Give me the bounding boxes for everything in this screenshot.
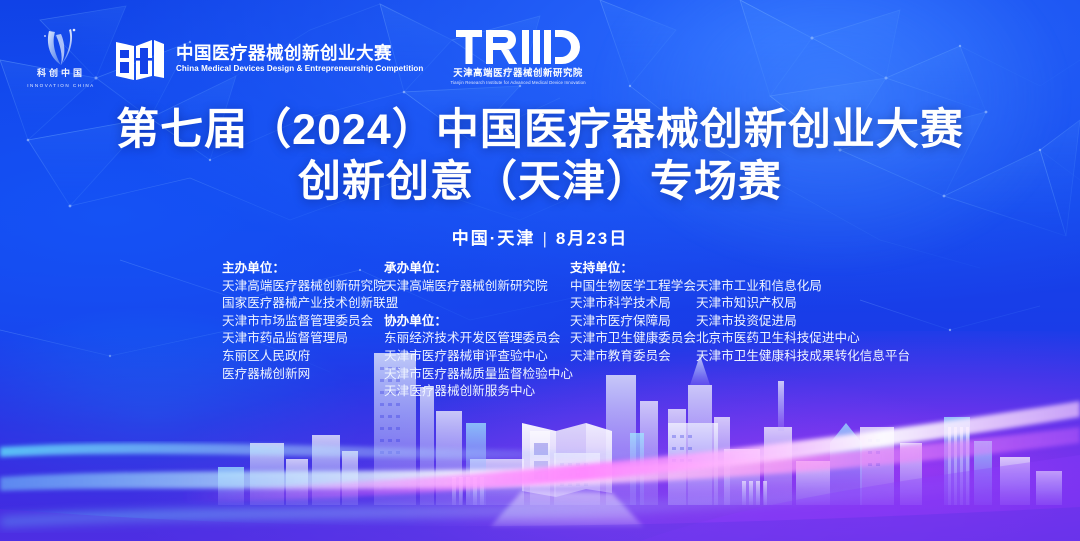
supporter-item: 天津市投资促进局	[696, 313, 910, 331]
subtitle-separator: |	[542, 229, 548, 249]
host-item: 天津市药品监督管理局	[222, 330, 358, 348]
organizer-column-supporters: 支持单位： 中国生物医学工程学会 天津市科学技术局 天津市医疗保障局 天津市卫生…	[570, 260, 910, 366]
host-heading: 主办单位：	[222, 260, 358, 278]
supporter-item: 天津市卫生健康委员会	[570, 330, 696, 348]
logo-innovation-china: 科创中国 INNOVATION CHINA	[24, 27, 98, 89]
page-title: 第七届（2024）中国医疗器械创新创业大赛 创新创意（天津）专场赛	[0, 104, 1080, 208]
supporter-item: 天津市知识产权局	[696, 295, 910, 313]
supporter-list-right: 天津市工业和信息化局 天津市知识产权局 天津市投资促进局 北京市医药卫生科技促进…	[696, 278, 910, 366]
supporter-list-left: 中国生物医学工程学会 天津市科学技术局 天津市医疗保障局 天津市卫生健康委员会 …	[570, 278, 696, 366]
supporter-lists: 中国生物医学工程学会 天津市科学技术局 天津市医疗保障局 天津市卫生健康委员会 …	[570, 278, 910, 366]
logo-triid: 天津高端医疗器械创新研究院 Tianjin Research Institute…	[450, 30, 585, 86]
open-door-icon	[114, 32, 166, 84]
organizer-column-host: 主办单位： 天津高端医疗器械创新研究院 国家医疗器械产业技术创新联盟 天津市市场…	[222, 260, 358, 383]
subtitle-date: 8月23日	[556, 229, 628, 248]
supporter-item: 天津市教育委员会	[570, 348, 696, 366]
host-item: 东丽区人民政府	[222, 348, 358, 366]
subtitle-place: 中国·天津	[452, 229, 536, 248]
logo-bar: 科创中国 INNOVATION CHINA 中国医疗器械创新创业大赛	[24, 26, 586, 90]
triid-en: Tianjin Research Institute for Advanced …	[450, 79, 585, 86]
triid-wordmark-icon	[456, 30, 580, 64]
supporter-item: 北京市医药卫生科技促进中心	[696, 330, 910, 348]
coorganizer-item: 天津市医疗器械审评查验中心	[384, 348, 544, 366]
supporter-item: 天津市工业和信息化局	[696, 278, 910, 296]
host-item: 天津高端医疗器械创新研究院	[222, 278, 358, 296]
triid-zh: 天津高端医疗器械创新研究院	[453, 66, 583, 79]
logo-competition: 中国医疗器械创新创业大赛 China Medical Devices Desig…	[114, 32, 428, 84]
undertaker-heading: 承办单位：	[384, 260, 544, 278]
coorganizer-item: 天津医疗器械创新服务中心	[384, 383, 544, 401]
innovation-china-bird-mark	[36, 27, 86, 69]
organizer-block: 主办单位： 天津高端医疗器械创新研究院 国家医疗器械产业技术创新联盟 天津市市场…	[222, 260, 910, 401]
supporter-item: 中国生物医学工程学会	[570, 278, 696, 296]
host-item: 天津市市场监督管理委员会	[222, 313, 358, 331]
supporter-heading: 支持单位：	[570, 260, 910, 278]
organizer-column-undertaker: 承办单位： 天津高端医疗器械创新研究院 协办单位： 东丽经济技术开发区管理委员会…	[384, 260, 544, 401]
coorganizer-heading: 协办单位：	[384, 313, 544, 331]
host-item: 国家医疗器械产业技术创新联盟	[222, 295, 358, 313]
competition-zh: 中国医疗器械创新创业大赛	[176, 43, 428, 63]
coorganizer-item: 天津市医疗器械质量监督检验中心	[384, 366, 544, 384]
column-spacer	[384, 295, 544, 313]
poster-canvas: 科创中国 INNOVATION CHINA 中国医疗器械创新创业大赛	[0, 0, 1080, 541]
host-item: 医疗器械创新网	[222, 366, 358, 384]
innovation-china-zh: 科创中国	[24, 66, 98, 79]
coorganizer-item: 东丽经济技术开发区管理委员会	[384, 330, 544, 348]
supporter-item: 天津市医疗保障局	[570, 313, 696, 331]
competition-text: 中国医疗器械创新创业大赛 China Medical Devices Desig…	[176, 43, 428, 74]
competition-en: China Medical Devices Design & Entrepren…	[176, 63, 423, 74]
subtitle-place-date: 中国·天津|8月23日	[0, 224, 1080, 249]
undertaker-item: 天津高端医疗器械创新研究院	[384, 278, 544, 296]
supporter-item: 天津市卫生健康科技成果转化信息平台	[696, 348, 910, 366]
title-line-1: 第七届（2024）中国医疗器械创新创业大赛	[0, 104, 1080, 156]
innovation-china-en: INNOVATION CHINA	[24, 83, 98, 88]
supporter-item: 天津市科学技术局	[570, 295, 696, 313]
title-line-2: 创新创意（天津）专场赛	[0, 156, 1080, 208]
